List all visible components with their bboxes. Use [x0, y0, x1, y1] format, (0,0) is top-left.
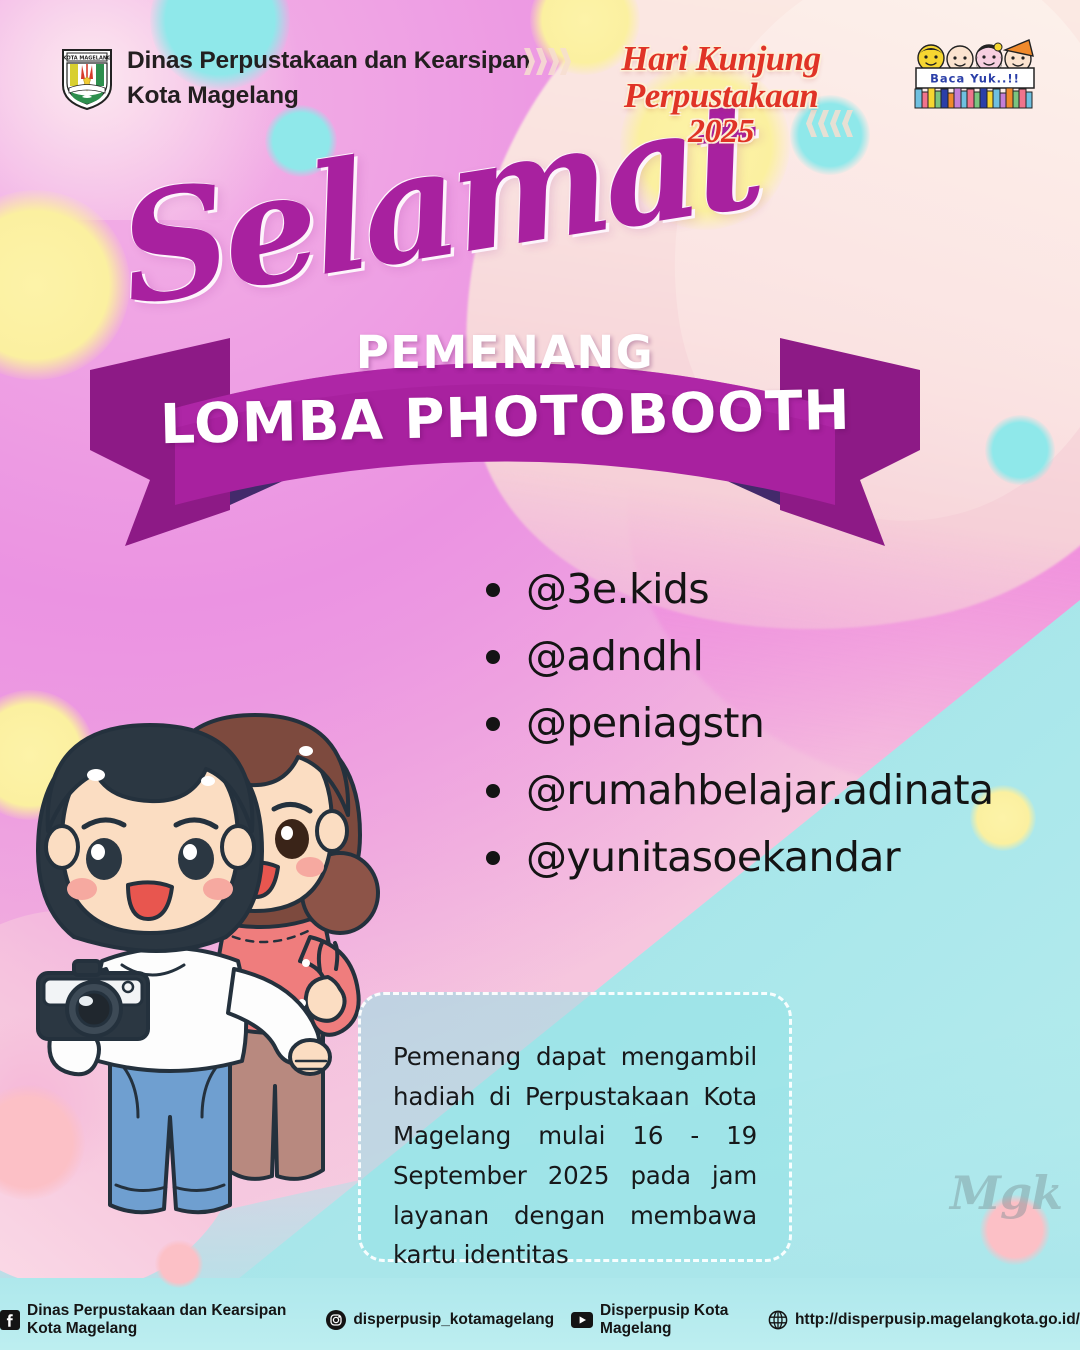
winner-handle: @yunitasoekandar [526, 837, 900, 878]
footer-youtube[interactable]: Disperpusip Kota Magelang [571, 1302, 751, 1338]
winner-handle: @3e.kids [526, 569, 709, 610]
organization-name-line2: Kota Magelang [127, 79, 530, 114]
footer-facebook-label: Dinas Perpustakaan dan Kearsipan Kota Ma… [27, 1302, 309, 1338]
organization-name-line1: Dinas Perpustakaan dan Kearsipan [127, 44, 530, 79]
winner-handle: @adndhl [526, 636, 703, 677]
footer-website-label: http://disperpusip.magelangkota.go.id/ [795, 1311, 1080, 1329]
event-year: 2025 [596, 114, 846, 150]
winner-handle: @rumahbelajar.adinata [526, 770, 994, 811]
prize-pickup-info-box: Pemenang dapat mengambil hadiah di Perpu… [358, 992, 792, 1262]
youtube-icon [571, 1312, 593, 1328]
chevron-decor-left-icon [524, 48, 571, 75]
list-item: @adndhl [486, 623, 994, 690]
poster-header: KOTA MAGELANG Dinas Perpustakaan dan Kea… [0, 0, 1080, 140]
footer-youtube-label: Disperpusip Kota Magelang [600, 1302, 751, 1338]
instagram-icon [326, 1310, 346, 1330]
bullet-icon [486, 717, 500, 731]
list-item: @peniagstn [486, 690, 994, 757]
bullet-icon [486, 583, 500, 597]
globe-icon [768, 1310, 788, 1330]
baca-yuk-mascot-logo: Baca Yuk..!! [905, 36, 1045, 114]
facebook-icon [0, 1310, 20, 1330]
footer-facebook[interactable]: Dinas Perpustakaan dan Kearsipan Kota Ma… [0, 1302, 309, 1338]
organization-name: Dinas Perpustakaan dan Kearsipan Kota Ma… [127, 44, 530, 114]
winner-handle: @peniagstn [526, 703, 764, 744]
bullet-icon [486, 784, 500, 798]
kota-magelang-crest-icon: KOTA MAGELANG [60, 47, 114, 111]
prize-pickup-text: Pemenang dapat mengambil hadiah di Perpu… [393, 1037, 757, 1275]
footer-instagram-label: disperpusip_kotamagelang [353, 1311, 554, 1329]
ribbon-shape [80, 300, 930, 550]
decor-dot-teal-4 [985, 415, 1055, 485]
svg-text:KOTA MAGELANG: KOTA MAGELANG [63, 55, 111, 61]
list-item: @3e.kids [486, 556, 994, 623]
event-title-line1: Hari Kunjung [596, 40, 846, 77]
svg-text:Baca Yuk..!!: Baca Yuk..!! [930, 72, 1020, 86]
footer-website[interactable]: http://disperpusip.magelangkota.go.id/ [768, 1310, 1080, 1330]
winner-ribbon-banner: PEMENANG LOMBA PHOTOBOOTH [80, 300, 930, 550]
poster-canvas: KOTA MAGELANG Dinas Perpustakaan dan Kea… [0, 0, 1080, 1350]
event-title: Hari Kunjung Perpustakaan 2025 [596, 40, 846, 150]
footer-instagram[interactable]: disperpusip_kotamagelang [326, 1310, 554, 1330]
mgk-watermark: Mgk [950, 1166, 1062, 1220]
bullet-icon [486, 650, 500, 664]
decor-dot-peach-2 [155, 1240, 203, 1288]
list-item: @rumahbelajar.adinata [486, 757, 994, 824]
organization-brand: KOTA MAGELANG Dinas Perpustakaan dan Kea… [60, 44, 530, 114]
winner-list: @3e.kids @adndhl @peniagstn @rumahbelaja… [486, 556, 994, 891]
list-item: @yunitasoekandar [486, 824, 994, 891]
social-footer: Dinas Perpustakaan dan Kearsipan Kota Ma… [0, 1290, 1080, 1350]
bullet-icon [486, 851, 500, 865]
event-title-line2: Perpustakaan [596, 77, 846, 114]
